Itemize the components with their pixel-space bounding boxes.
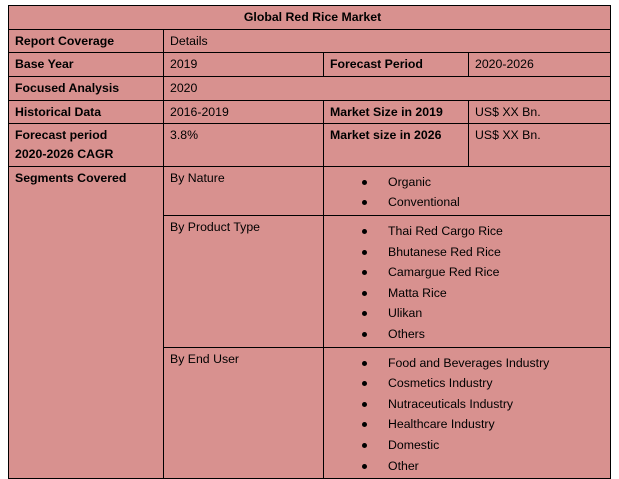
- row-label-forecast-cagr-line1: Forecast period: [15, 128, 107, 142]
- row-label-focused-analysis: Focused Analysis: [9, 77, 164, 101]
- list-item: Nutraceuticals Industry: [330, 394, 610, 415]
- bullet-list-by-end-user: Food and Beverages Industry Cosmetics In…: [330, 350, 610, 477]
- row-value-forecast-cagr: 3.8%: [164, 124, 324, 166]
- segment-dimension-by-nature: By Nature: [164, 166, 324, 215]
- list-item: Other: [330, 456, 610, 477]
- list-item: Camargue Red Rice: [330, 262, 610, 283]
- row-label-market-size-2019: Market Size in 2019: [324, 100, 469, 124]
- list-item: Organic: [330, 172, 610, 193]
- row-value-historical-data: 2016-2019: [164, 100, 324, 124]
- row-label-historical-data: Historical Data: [9, 100, 164, 124]
- segment-items-by-nature: Organic Conventional: [324, 166, 611, 215]
- row-value-forecast-period: 2020-2026: [469, 53, 611, 77]
- table-row-focused-analysis: Focused Analysis 2020: [9, 77, 611, 101]
- row-value-market-size-2019: US$ XX Bn.: [469, 100, 611, 124]
- segment-items-by-product-type: Thai Red Cargo Rice Bhutanese Red Rice C…: [324, 216, 611, 348]
- list-item: Cosmetics Industry: [330, 373, 610, 394]
- row-value-base-year: 2019: [164, 53, 324, 77]
- row-label-market-size-2026: Market size in 2026: [324, 124, 469, 166]
- segment-items-by-end-user: Food and Beverages Industry Cosmetics In…: [324, 347, 611, 479]
- bullet-list-by-product-type: Thai Red Cargo Rice Bhutanese Red Rice C…: [330, 218, 610, 345]
- list-item: Others: [330, 324, 610, 345]
- bullet-list-by-nature: Organic Conventional: [330, 169, 610, 213]
- row-label-forecast-cagr: Forecast period2020-2026 CAGR: [9, 124, 164, 166]
- row-value-details: Details: [164, 29, 611, 53]
- row-label-report-coverage: Report Coverage: [9, 29, 164, 53]
- list-item: Healthcare Industry: [330, 414, 610, 435]
- report-summary-table-container: Global Red Rice Market Report Coverage D…: [8, 5, 610, 442]
- segment-dimension-by-end-user: By End User: [164, 347, 324, 479]
- list-item: Ulikan: [330, 303, 610, 324]
- list-item: Conventional: [330, 192, 610, 213]
- segment-dimension-by-product-type: By Product Type: [164, 216, 324, 348]
- row-value-market-size-2026: US$ XX Bn.: [469, 124, 611, 166]
- table-row-base-year: Base Year 2019 Forecast Period 2020-2026: [9, 53, 611, 77]
- list-item: Matta Rice: [330, 283, 610, 304]
- list-item: Food and Beverages Industry: [330, 353, 610, 374]
- table-row-forecast-cagr: Forecast period2020-2026 CAGR 3.8% Marke…: [9, 124, 611, 166]
- list-item: Thai Red Cargo Rice: [330, 221, 610, 242]
- row-value-focused-analysis: 2020: [164, 77, 611, 101]
- table-row-report-coverage: Report Coverage Details: [9, 29, 611, 53]
- list-item: Domestic: [330, 435, 610, 456]
- row-label-forecast-cagr-line2: 2020-2026 CAGR: [15, 145, 163, 164]
- list-item: Bhutanese Red Rice: [330, 242, 610, 263]
- row-label-segments-covered: Segments Covered: [9, 166, 164, 478]
- report-summary-table: Global Red Rice Market Report Coverage D…: [8, 5, 611, 479]
- report-title: Global Red Rice Market: [9, 6, 611, 30]
- row-label-forecast-period: Forecast Period: [324, 53, 469, 77]
- table-row-segment-by-nature: Segments Covered By Nature Organic Conve…: [9, 166, 611, 215]
- table-row-historical-data: Historical Data 2016-2019 Market Size in…: [9, 100, 611, 124]
- table-row-title: Global Red Rice Market: [9, 6, 611, 30]
- row-label-base-year: Base Year: [9, 53, 164, 77]
